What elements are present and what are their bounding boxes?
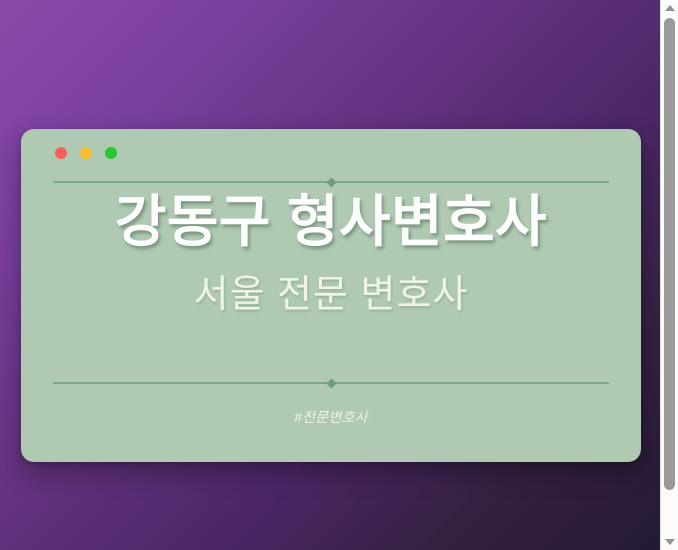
card-title: 강동구 형사변호사 — [21, 189, 641, 255]
card-subtitle: 서울 전문 변호사 — [21, 273, 641, 319]
scrollbar-track[interactable] — [661, 16, 678, 534]
scroll-down-arrow-icon[interactable] — [661, 534, 678, 550]
card-content: 강동구 형사변호사 서울 전문 변호사 — [21, 189, 641, 319]
close-button[interactable] — [55, 147, 67, 159]
vertical-scrollbar[interactable] — [660, 0, 678, 550]
window-traffic-lights — [55, 147, 117, 159]
divider-diamond-icon — [326, 378, 336, 388]
divider-bottom — [53, 382, 609, 384]
presentation-card: 강동구 형사변호사 서울 전문 변호사 #전문변호사 — [21, 129, 641, 462]
scroll-up-arrow-icon[interactable] — [661, 0, 678, 16]
page-viewport: 강동구 형사변호사 서울 전문 변호사 #전문변호사 — [0, 0, 660, 550]
minimize-button[interactable] — [80, 147, 92, 159]
divider-diamond-icon — [326, 177, 336, 187]
divider-top — [53, 181, 609, 183]
maximize-button[interactable] — [105, 147, 117, 159]
scrollbar-thumb[interactable] — [664, 18, 675, 490]
card-hashtag: #전문변호사 — [21, 407, 641, 427]
